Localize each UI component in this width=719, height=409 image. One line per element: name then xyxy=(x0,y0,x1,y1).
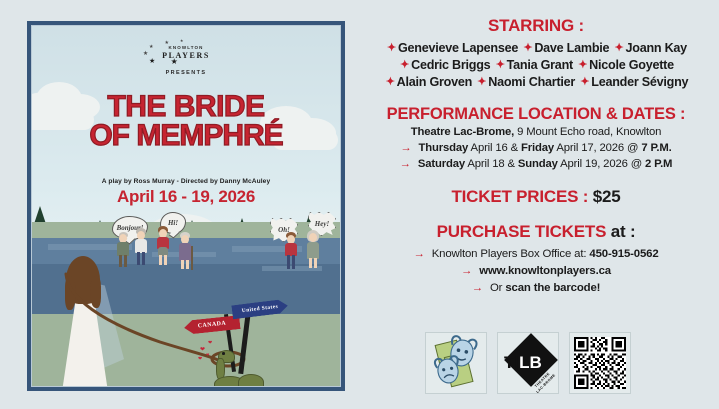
star-bullet-icon: ✦ xyxy=(578,59,587,71)
ticket-price-label: TICKET PRICES : xyxy=(451,187,592,206)
showtime: 2 P.M xyxy=(645,158,672,170)
qr-code-box[interactable] xyxy=(569,332,631,394)
website-link[interactable]: www.knowltonplayers.ca xyxy=(479,265,611,277)
cast-name: Alain Groven xyxy=(397,75,472,89)
title-line-1: THE BRIDE xyxy=(32,93,340,122)
tlb-lettermark: T|LB xyxy=(504,353,542,373)
cast-name: Cedric Briggs xyxy=(411,58,490,72)
knowlton-players-masks-logo xyxy=(425,332,487,394)
date-day-2: Friday xyxy=(521,142,554,154)
bride-character xyxy=(46,250,132,387)
arrow-right-icon: → xyxy=(472,282,483,294)
date-day-1: Thursday xyxy=(419,142,469,154)
logo-knowlton-text: KNOWLTON xyxy=(32,45,340,50)
arrow-right-icon: → xyxy=(461,265,472,277)
poster-dates: April 16 - 19, 2026 xyxy=(32,187,340,207)
poster-title: THE BRIDE OF MEMPHRÉ xyxy=(32,93,340,150)
starring-heading: STARRING : xyxy=(360,16,712,36)
logo-star-arc: ★ ★ ★ ★ ★ ★ KNOWLTON PLAYERS xyxy=(32,40,340,66)
bride-hair-left xyxy=(65,276,76,310)
showtime: 7 P.M. xyxy=(641,142,671,154)
purchase-options: → Knowlton Players Box Office at: 450-91… xyxy=(360,246,712,297)
date-text-1: April 16 & xyxy=(468,142,521,154)
poster-advertisement-page: ★ ★ ★ ★ ★ ★ KNOWLTON PLAYERS PRESENTS TH… xyxy=(0,0,719,409)
star-bullet-icon: ✦ xyxy=(400,59,409,71)
star-bullet-icon: ✦ xyxy=(580,76,589,88)
ticket-price-amount: $25 xyxy=(593,187,621,206)
website-line: → www.knowltonplayers.ca xyxy=(360,263,712,280)
date-text-2: April 17, 2026 @ xyxy=(554,142,641,154)
presents-label: PRESENTS xyxy=(32,70,340,76)
purchase-heading: PURCHASE TICKETS at : xyxy=(360,222,712,242)
performance-details: Theatre Lac-Brome, 9 Mount Echo road, Kn… xyxy=(360,124,712,172)
tlb-letter-l: L xyxy=(519,353,529,372)
cast-name: Nicole Goyette xyxy=(589,58,674,72)
venue-name: Theatre Lac-Brome, xyxy=(411,126,514,138)
date-row: → Thursday April 16 & Friday April 17, 2… xyxy=(360,140,712,156)
cast-row: ✦Cedric Briggs ✦Tania Grant ✦Nicole Goye… xyxy=(360,57,712,74)
purchase-at-label: at : xyxy=(611,222,636,241)
performance-heading: PERFORMANCE LOCATION & DATES : xyxy=(360,105,712,124)
star-bullet-icon: ✦ xyxy=(386,76,395,88)
bride-hair-right xyxy=(90,276,101,308)
tlb-letter-t: T xyxy=(504,353,514,372)
cast-name: Joann Kay xyxy=(626,41,687,55)
purchase-label: PURCHASE TICKETS xyxy=(437,222,611,241)
poster-artwork: ★ ★ ★ ★ ★ ★ KNOWLTON PLAYERS PRESENTS TH… xyxy=(31,25,341,387)
cast-name: Dave Lambie xyxy=(534,41,609,55)
logo-players-text: PLAYERS xyxy=(32,51,340,60)
arrow-right-icon: → xyxy=(400,142,411,154)
date-row: → Saturday April 18 & Sunday April 19, 2… xyxy=(360,156,712,172)
date-day-1: Saturday xyxy=(418,158,465,170)
title-line-2: OF MEMPHRÉ xyxy=(32,122,340,151)
box-office-label: Knowlton Players Box Office at: xyxy=(432,248,590,260)
cast-name: Leander Sévigny xyxy=(591,75,688,89)
arrow-right-icon: → xyxy=(400,158,411,170)
barcode-instruction: scan the barcode! xyxy=(505,282,600,294)
venue-address: 9 Mount Echo road, Knowlton xyxy=(514,126,661,138)
barcode-prefix: Or xyxy=(490,282,505,294)
box-office-phone[interactable]: 450-915-0562 xyxy=(589,248,658,260)
date-text-1: April 18 & xyxy=(465,158,518,170)
box-office-line: → Knowlton Players Box Office at: 450-91… xyxy=(360,246,712,263)
venue-line: Theatre Lac-Brome, 9 Mount Echo road, Kn… xyxy=(360,124,712,140)
knowlton-players-logo: ★ ★ ★ ★ ★ ★ KNOWLTON PLAYERS PRESENTS xyxy=(32,40,340,76)
date-day-2: Sunday xyxy=(518,158,558,170)
cast-row: ✦Alain Groven ✦Naomi Chartier ✦Leander S… xyxy=(360,74,712,91)
barcode-line: → Or scan the barcode! xyxy=(360,280,712,297)
tlb-letter-b: B xyxy=(530,353,542,372)
cast-name: Tania Grant xyxy=(507,58,573,72)
show-poster: ★ ★ ★ ★ ★ ★ KNOWLTON PLAYERS PRESENTS TH… xyxy=(27,21,345,391)
qr-code[interactable] xyxy=(574,337,626,389)
cast-name: Naomi Chartier xyxy=(488,75,575,89)
sponsor-logos: T|LB THEATRE LAC-BROME xyxy=(425,332,631,394)
ticket-price-heading: TICKET PRICES : $25 xyxy=(360,187,712,207)
star-bullet-icon: ✦ xyxy=(523,42,532,54)
star-bullet-icon: ✦ xyxy=(496,59,505,71)
star-bullet-icon: ✦ xyxy=(387,42,396,54)
theatre-lac-brome-logo: T|LB THEATRE LAC-BROME xyxy=(497,332,559,394)
date-text-2: April 19, 2026 @ xyxy=(558,158,645,170)
star-bullet-icon: ✦ xyxy=(477,76,486,88)
event-details-column: STARRING : ✦Genevieve Lapensee ✦Dave Lam… xyxy=(360,6,712,297)
cast-row: ✦Genevieve Lapensee ✦Dave Lambie ✦Joann … xyxy=(360,40,712,57)
cast-name: Genevieve Lapensee xyxy=(398,41,518,55)
star-bullet-icon: ✦ xyxy=(615,42,624,54)
poster-byline: A play by Ross Murray - Directed by Dann… xyxy=(32,178,340,185)
arrow-right-icon: → xyxy=(413,248,424,260)
cast-list: ✦Genevieve Lapensee ✦Dave Lambie ✦Joann … xyxy=(360,40,712,91)
